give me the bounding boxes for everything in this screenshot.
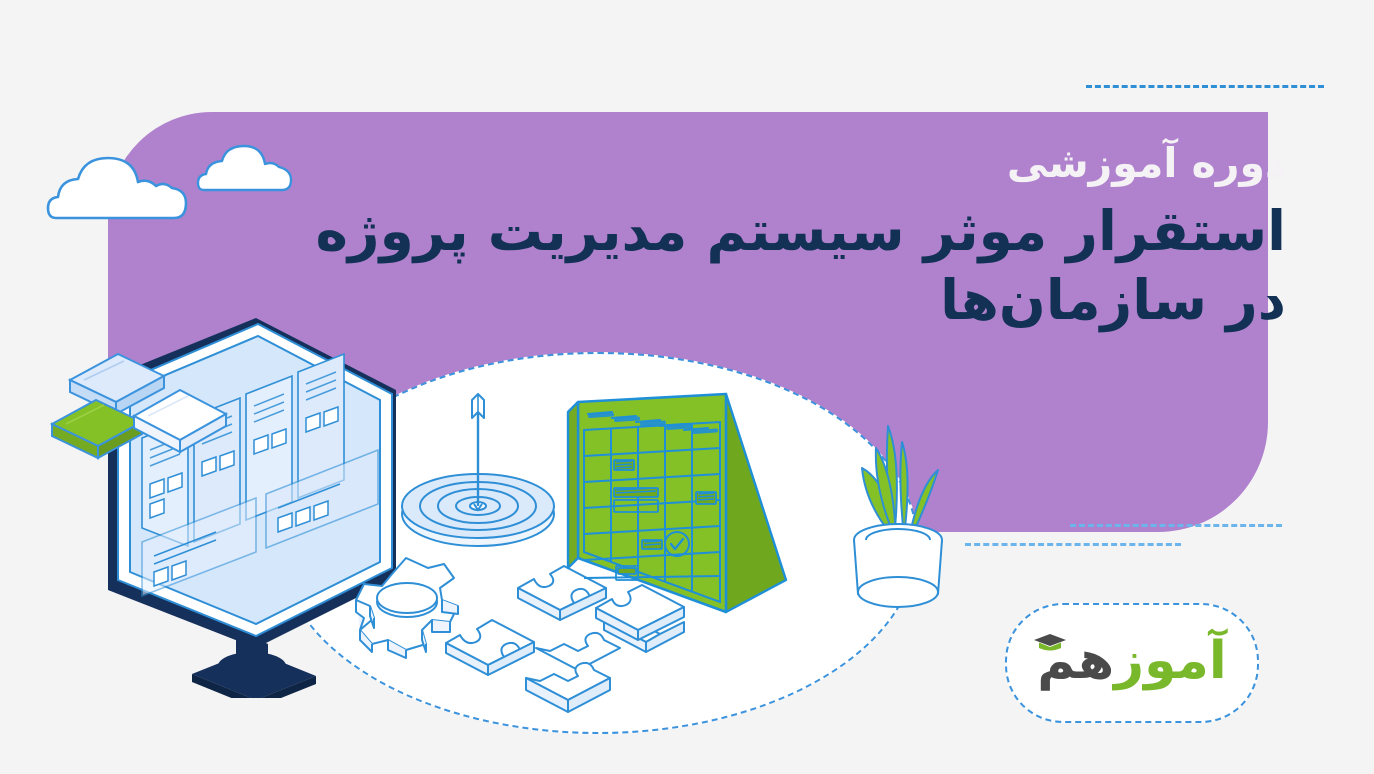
target-with-arrow-illustration (392, 392, 564, 552)
logo-wordmark: آموزهم (1037, 635, 1226, 687)
graduation-cap-icon (1033, 633, 1067, 653)
poster-canvas: دوره آموزشی استقرار موثر سیستم مدیریت پر… (0, 0, 1374, 774)
page-title-line-1: استقرار موثر سیستم مدیریت پروژه (315, 199, 1286, 263)
dashed-rule-top-right (1086, 85, 1324, 88)
hero-text-block: دوره آموزشی استقرار موثر سیستم مدیریت پر… (226, 140, 1286, 336)
course-eyebrow: دوره آموزشی (226, 140, 1286, 187)
logo-text-amooz: آموز (1114, 631, 1227, 691)
stacked-books-illustration (46, 340, 236, 470)
dashed-rule-bottom-right-1 (1070, 524, 1282, 527)
dashed-rule-bottom-right-2 (965, 543, 1181, 546)
brand-logo[interactable]: آموزهم (1005, 603, 1259, 723)
page-title-line-2: در سازمان‌ها (226, 266, 1286, 335)
cloud-icon-large (46, 148, 196, 226)
page-title: استقرار موثر سیستم مدیریت پروژه در سازما… (226, 197, 1286, 336)
desk-calendar-illustration (540, 372, 830, 632)
potted-plant-illustration (832, 412, 962, 632)
